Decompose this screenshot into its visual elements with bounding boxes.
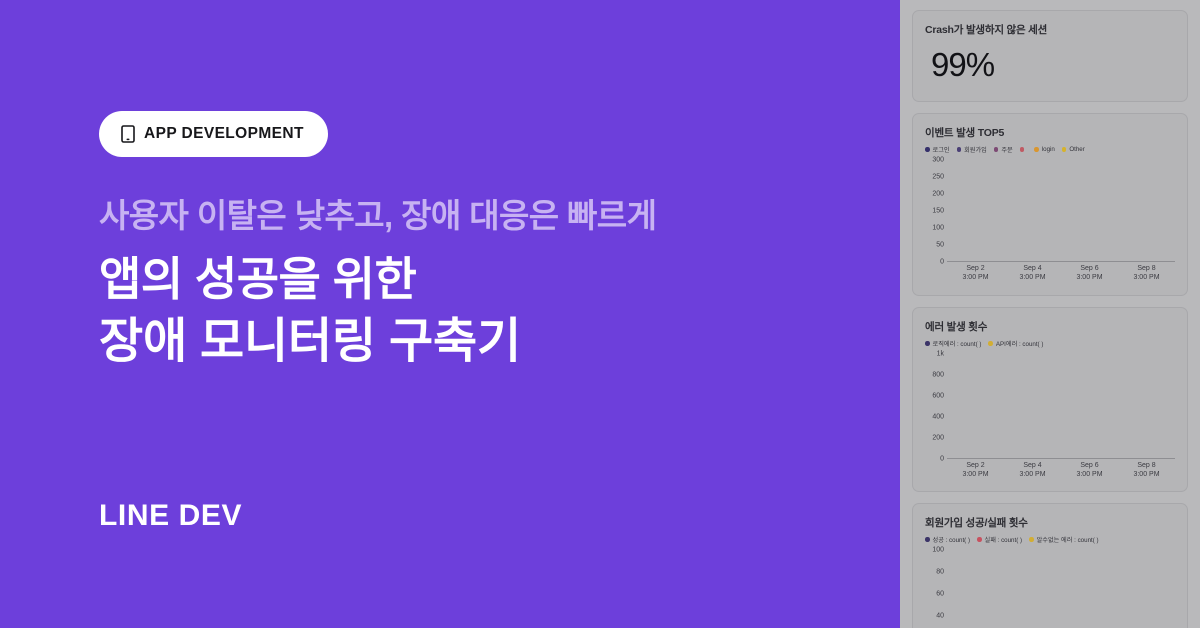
hero-title: 앱의 성공을 위한 장애 모니터링 구축기	[99, 249, 521, 373]
legend-color-dot	[1020, 147, 1025, 152]
legend-label: 주문	[1001, 145, 1012, 154]
y-axis-tick: 100	[932, 547, 944, 554]
x-axis: Sep 23:00 PMSep 43:00 PMSep 63:00 PMSep …	[947, 459, 1175, 481]
dashboard-panel[interactable]: Crash가 발생하지 않은 세션 99% 이벤트 발생 TOP5 로그인회원가…	[900, 0, 1200, 628]
legend-color-dot	[925, 147, 930, 152]
y-axis-tick: 0	[940, 259, 944, 266]
card-title: 이벤트 발생 TOP5	[925, 125, 1175, 140]
x-axis-tick: Sep 43:00 PM	[1019, 265, 1045, 283]
hero-title-line-2: 장애 모니터링 구축기	[99, 310, 521, 373]
x-axis-tick-time: 3:00 PM	[1133, 274, 1159, 283]
legend-label: 알수없는 에러 : count( )	[1037, 535, 1099, 544]
chart-legend: 로그인회원가입주문loginOther	[925, 145, 1175, 154]
chart-bar-group	[971, 160, 980, 261]
x-axis-tick-date: Sep 2	[962, 265, 988, 274]
y-axis-tick: 200	[932, 435, 944, 442]
mobile-phone-icon	[121, 125, 135, 143]
legend-item[interactable]: 알수없는 에러 : count( )	[1029, 535, 1099, 544]
hero-subtitle: 사용자 이탈은 낮추고, 장애 대응은 빠르게	[99, 189, 656, 237]
chart-bar-group	[983, 160, 992, 261]
x-axis-tick: Sep 23:00 PM	[962, 462, 988, 480]
legend-item[interactable]	[1020, 147, 1028, 152]
x-axis-tick-date: Sep 6	[1076, 265, 1102, 274]
y-axis-tick: 200	[932, 191, 944, 198]
x-axis-tick: Sep 63:00 PM	[1076, 462, 1102, 480]
y-axis-tick: 600	[932, 393, 944, 400]
y-axis-tick: 40	[936, 613, 944, 620]
hero-title-line-1: 앱의 성공을 위한	[99, 249, 521, 310]
x-axis-tick-date: Sep 2	[962, 462, 988, 471]
category-badge-label: APP DEVELOPMENT	[144, 125, 304, 143]
x-axis-tick-date: Sep 4	[1019, 265, 1045, 274]
bars-area	[947, 160, 1175, 262]
y-axis: 050100150200250300	[925, 160, 947, 262]
chart-bar-group	[1028, 160, 1037, 261]
legend-label: 실패 : count( )	[985, 535, 1023, 544]
category-badge[interactable]: APP DEVELOPMENT	[99, 111, 328, 157]
card-title: 회원가입 성공/실패 횟수	[925, 515, 1175, 530]
card-signup-success-fail[interactable]: 회원가입 성공/실패 횟수 성공 : count( )실패 : count( )…	[912, 503, 1188, 628]
card-title: Crash가 발생하지 않은 세션	[925, 22, 1175, 37]
y-axis: 02004006008001k	[925, 354, 947, 459]
card-error-counts[interactable]: 에러 발생 횟수 로직에러 : count( )API에러 : count( )…	[912, 307, 1188, 492]
x-axis-tick-date: Sep 4	[1019, 462, 1045, 471]
chart-bar-group	[1151, 354, 1170, 458]
chart-bar-group	[1148, 550, 1157, 628]
card-crash-free-sessions[interactable]: Crash가 발생하지 않은 세션 99%	[912, 10, 1188, 102]
legend-label: Other	[1069, 146, 1084, 153]
legend-item[interactable]: 회원가입	[957, 145, 987, 154]
x-axis-tick-date: Sep 8	[1133, 265, 1159, 274]
x-axis: Sep 23:00 PMSep 43:00 PMSep 63:00 PMSep …	[947, 262, 1175, 284]
chart-bar-group	[1037, 354, 1056, 458]
legend-label: API에러 : count( )	[996, 339, 1044, 348]
chart-bar-group	[1011, 550, 1020, 628]
card-top5-events[interactable]: 이벤트 발생 TOP5 로그인회원가입주문loginOther 05010015…	[912, 113, 1188, 296]
screenshot-root: APP DEVELOPMENT 사용자 이탈은 낮추고, 장애 대응은 빠르게 …	[0, 0, 1200, 628]
legend-label: 로직에러 : count( )	[933, 339, 982, 348]
legend-color-dot	[1029, 537, 1034, 542]
legend-color-dot	[1062, 147, 1067, 152]
y-axis-tick: 1k	[937, 351, 944, 358]
brand-logo: LINE DEV	[99, 499, 242, 533]
chart-bar-group	[1016, 160, 1025, 261]
bars-area	[947, 354, 1175, 459]
y-axis-tick: 300	[932, 157, 944, 164]
y-axis-tick: 100	[932, 225, 944, 232]
legend-item[interactable]: 성공 : count( )	[925, 535, 970, 544]
legend-label: 로그인	[933, 145, 950, 154]
legend-color-dot	[925, 341, 930, 346]
x-axis-tick: Sep 23:00 PM	[962, 265, 988, 283]
chart-plot-area: 02004006008001k	[925, 354, 1175, 459]
y-axis-tick: 60	[936, 591, 944, 598]
chart-plot-area: 050100150200250300	[925, 160, 1175, 262]
legend-color-dot	[1034, 147, 1039, 152]
x-axis-tick-time: 3:00 PM	[1133, 471, 1159, 480]
legend-color-dot	[994, 147, 999, 152]
legend-item[interactable]: 주문	[994, 145, 1013, 154]
legend-color-dot	[977, 537, 982, 542]
x-axis-tick: Sep 63:00 PM	[1076, 265, 1102, 283]
y-axis-tick: 250	[932, 174, 944, 181]
legend-color-dot	[925, 537, 930, 542]
x-axis-tick-time: 3:00 PM	[962, 471, 988, 480]
bars-area	[947, 550, 1175, 628]
chart-bar-group	[1142, 160, 1151, 261]
x-axis-tick-time: 3:00 PM	[1076, 471, 1102, 480]
chart-legend: 성공 : count( )실패 : count( )알수없는 에러 : coun…	[925, 535, 1175, 544]
legend-item[interactable]: 실패 : count( )	[977, 535, 1022, 544]
legend-label: 회원가입	[964, 145, 987, 154]
chart-bar-group	[1102, 550, 1111, 628]
chart-legend: 로직에러 : count( )API에러 : count( )	[925, 339, 1175, 348]
y-axis-tick: 400	[932, 414, 944, 421]
x-axis-tick-time: 3:00 PM	[1019, 274, 1045, 283]
chart-bar-group	[1154, 160, 1163, 261]
chart-bar-group	[952, 354, 971, 458]
legend-item[interactable]: 로직에러 : count( )	[925, 339, 981, 348]
legend-color-dot	[988, 341, 993, 346]
chart-bar-group	[1009, 354, 1028, 458]
legend-item[interactable]: login	[1034, 146, 1055, 153]
x-axis-tick: Sep 83:00 PM	[1133, 265, 1159, 283]
legend-color-dot	[957, 147, 962, 152]
y-axis-tick: 150	[932, 208, 944, 215]
chart-bar-group	[985, 354, 994, 458]
card-title: 에러 발생 횟수	[925, 319, 1175, 334]
x-axis-tick-time: 3:00 PM	[1076, 274, 1102, 283]
x-axis-tick-date: Sep 8	[1133, 462, 1159, 471]
legend-item[interactable]: API에러 : count( )	[988, 339, 1043, 348]
legend-item[interactable]: Other	[1062, 146, 1085, 153]
legend-label: login	[1042, 146, 1055, 153]
legend-label: 성공 : count( )	[933, 535, 971, 544]
x-axis-tick-time: 3:00 PM	[962, 274, 988, 283]
y-axis-tick: 0	[940, 456, 944, 463]
y-axis: 406080100	[925, 550, 947, 628]
x-axis-tick: Sep 43:00 PM	[1019, 462, 1045, 480]
hero-panel: APP DEVELOPMENT 사용자 이탈은 낮추고, 장애 대응은 빠르게 …	[0, 0, 900, 628]
chart-plot-area: 406080100	[925, 550, 1175, 628]
x-axis-tick-time: 3:00 PM	[1019, 471, 1045, 480]
crash-free-stat-value: 99%	[925, 42, 1175, 87]
y-axis-tick: 800	[932, 372, 944, 379]
x-axis-tick-date: Sep 6	[1076, 462, 1102, 471]
x-axis-tick: Sep 83:00 PM	[1133, 462, 1159, 480]
y-axis-tick: 50	[936, 242, 944, 249]
chart-bar-group	[1123, 354, 1142, 458]
legend-item[interactable]: 로그인	[925, 145, 950, 154]
y-axis-tick: 80	[936, 569, 944, 576]
